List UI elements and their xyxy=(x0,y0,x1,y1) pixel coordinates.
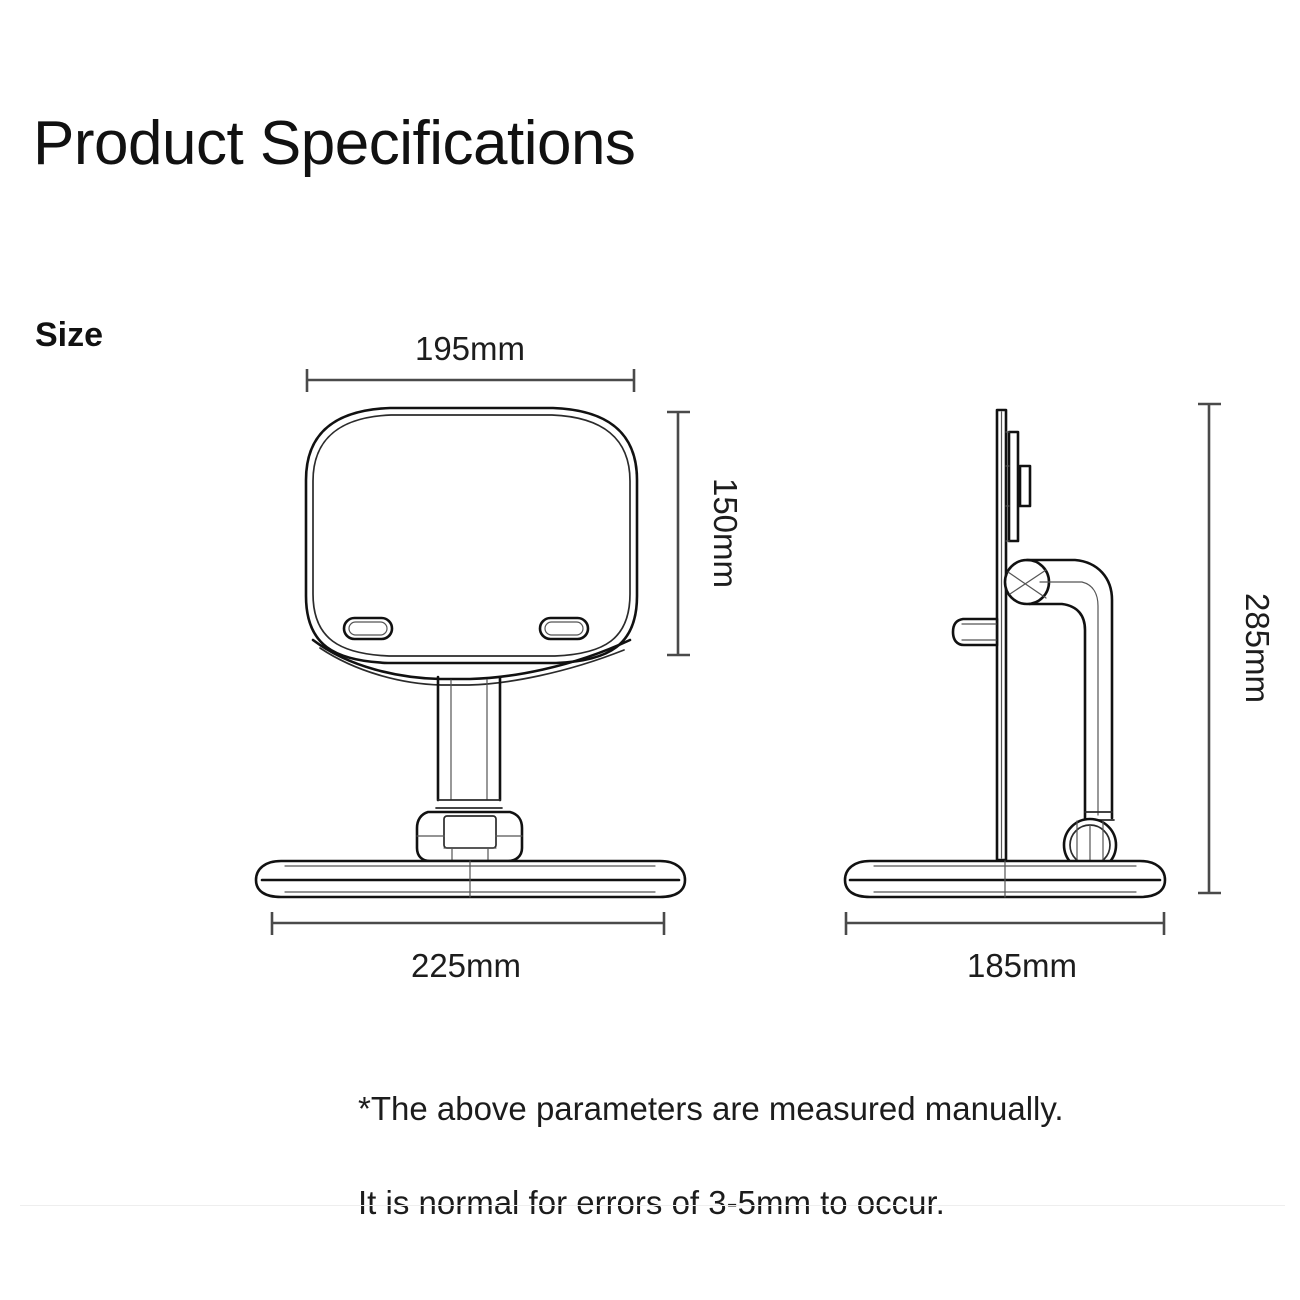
footnote-line-1: *The above parameters are measured manua… xyxy=(358,1085,1064,1132)
bottom-divider xyxy=(20,1205,1285,1206)
dimension-front-width-label: 195mm xyxy=(415,330,525,367)
front-hinge-center xyxy=(444,816,496,848)
side-arm-centerline xyxy=(1040,582,1098,815)
side-arm-inner xyxy=(1030,604,1085,818)
dimension-front-height-label: 150mm xyxy=(707,478,744,588)
side-lip-hook xyxy=(953,619,997,645)
front-view-tablet-stand xyxy=(256,408,685,897)
side-magnet-boss xyxy=(1020,466,1030,506)
dimension-base-width: 225mm xyxy=(272,912,664,984)
product-specifications-page: Product Specifications Size xyxy=(0,0,1300,1300)
footnote-block: *The above parameters are measured manua… xyxy=(358,1038,1064,1273)
dimension-side-height-label: 285mm xyxy=(1239,593,1276,703)
footnote-line-2: It is normal for errors of 3-5mm to occu… xyxy=(358,1179,1064,1226)
side-view-tablet-stand xyxy=(845,410,1165,897)
dimension-front-width: 195mm xyxy=(307,330,634,392)
dimension-side-base-width-label: 185mm xyxy=(967,947,1077,984)
slot-right xyxy=(540,618,588,639)
dimension-base-width-label: 225mm xyxy=(411,947,521,984)
dimension-front-height: 150mm xyxy=(667,412,744,655)
front-stem-inner-lines xyxy=(451,680,487,800)
front-stem-outer xyxy=(438,677,500,800)
dimension-side-height: 285mm xyxy=(1198,404,1276,893)
dimension-side-base-width: 185mm xyxy=(846,912,1164,984)
slot-left xyxy=(344,618,392,639)
side-raised-pad xyxy=(1009,432,1018,541)
